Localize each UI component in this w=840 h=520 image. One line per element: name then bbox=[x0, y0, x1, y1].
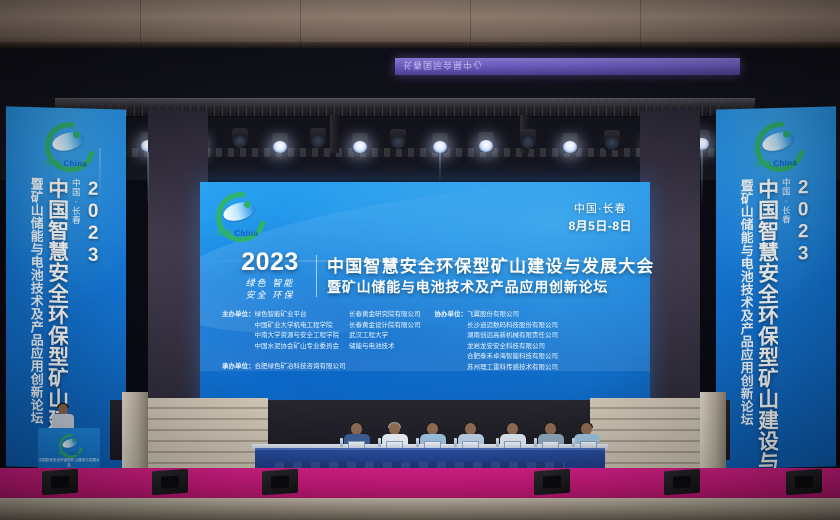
stage-spotlight bbox=[520, 129, 536, 149]
banner-left-logo: GIM China bbox=[6, 120, 126, 174]
screen-logo: GIM China bbox=[214, 192, 260, 243]
co-organizer-item: 苏州理工雷科传感技术有限公司 bbox=[467, 363, 558, 374]
stage-spotlight bbox=[390, 129, 406, 149]
banner-right-subtitle: 暨矿山储能与电池技术及产品应用创新论坛 bbox=[739, 179, 753, 469]
title-divider bbox=[316, 255, 317, 297]
host-item: 长春黄金设计院有限公司 bbox=[349, 321, 421, 332]
side-wall-panel-left bbox=[148, 109, 208, 411]
year-block: 2023 绿色 智能 安全 环保 bbox=[228, 250, 312, 302]
floor-monitor-speaker bbox=[664, 469, 700, 496]
event-year: 2023 bbox=[228, 250, 312, 275]
hall-pillar-right bbox=[700, 392, 726, 470]
gim-china-logo-icon: GIM China bbox=[58, 434, 80, 456]
host-item: 中南大学资源与安全工程学院 bbox=[255, 331, 340, 342]
co-organizer-label: 协办单位： bbox=[435, 310, 468, 373]
event-title-line2: 暨矿山储能与电池技术及产品应用创新论坛 bbox=[327, 278, 655, 297]
ceiling-beam bbox=[0, 0, 840, 48]
gim-china-logo-icon: GIM China bbox=[43, 121, 89, 168]
stage-spotlight bbox=[604, 130, 620, 150]
vertical-banner-right: GIM China 暨矿山储能与电池技术及产品应用创新论坛 中国智慧安全环保型矿… bbox=[716, 106, 836, 469]
organizer-block: 承办单位： 合肥绿色矿冶科技咨询有限公司 bbox=[222, 360, 346, 370]
gim-china-logo-icon: GIM China bbox=[214, 192, 260, 238]
host-item: 绿色智能矿业平台 bbox=[255, 310, 340, 321]
floor-monitor-speaker bbox=[534, 469, 570, 496]
floor-monitor-speaker bbox=[262, 469, 298, 496]
truss-leg bbox=[330, 115, 339, 153]
co-organizer-item: 合肥泰禾卓海智能科技有限公司 bbox=[467, 352, 558, 363]
banner-left-year: 2023 bbox=[83, 178, 103, 469]
main-led-screen: GIM China 中国·长春 8月5日-8日 2023 绿色 智能 安全 环保… bbox=[200, 182, 650, 412]
event-dates: 8月5日-8日 bbox=[568, 218, 632, 235]
event-titles: 中国智慧安全环保型矿山建设与发展大会 暨矿山储能与电池技术及产品应用创新论坛 bbox=[327, 256, 655, 297]
lighting-truss-secondary bbox=[120, 148, 720, 157]
stage-front-edge bbox=[0, 498, 840, 520]
stage-spotlight bbox=[310, 128, 326, 148]
stage-spotlight bbox=[352, 133, 368, 153]
stage-spotlight bbox=[478, 132, 494, 152]
stage-spotlight bbox=[562, 133, 578, 153]
event-location: 中国·长春 bbox=[568, 202, 632, 218]
led-strip-text: 长春国际会展中心 bbox=[403, 59, 483, 72]
floor-monitor-speaker bbox=[152, 469, 188, 496]
host-item: 储能与电池技术 bbox=[349, 342, 421, 353]
gim-china-logo-icon: GIM China bbox=[753, 121, 799, 168]
co-organizer-item: 龙岩龙安安全科技有限公司 bbox=[467, 342, 558, 353]
banner-right-logo: GIM China bbox=[716, 120, 836, 174]
host-item: 中国水泥协会矿山专业委员会 bbox=[255, 342, 340, 353]
co-organizer-block: 协办单位： 飞翼股份有限公司 长沙迪迈数码科技股份有限公司 湖南创远高新机械有限… bbox=[435, 310, 559, 373]
hall-pillar-left bbox=[122, 392, 148, 470]
banner-right-location: 中国·长春 bbox=[781, 178, 790, 468]
organizer-name: 合肥绿色矿冶科技咨询有限公司 bbox=[255, 360, 346, 370]
host-column-2: 长春黄金研究院有限公司 长春黄金设计院有限公司 武汉工程大学 储能与电池技术 bbox=[349, 310, 421, 373]
stage-spotlight bbox=[232, 128, 248, 148]
floor-monitor-speaker bbox=[786, 469, 822, 496]
purple-led-strip: 长春国际会展中心 bbox=[395, 58, 740, 75]
host-item: 中国矿业大学机电工程学院 bbox=[255, 321, 340, 332]
co-organizer-item: 飞翼股份有限公司 bbox=[467, 310, 558, 321]
banner-right-year: 2023 bbox=[793, 177, 813, 468]
event-title-line1: 中国智慧安全环保型矿山建设与发展大会 bbox=[327, 256, 655, 278]
screen-title-block: 2023 绿色 智能 安全 环保 中国智慧安全环保型矿山建设与发展大会 暨矿山储… bbox=[228, 250, 636, 302]
host-item: 武汉工程大学 bbox=[349, 331, 421, 342]
co-organizer-item: 湖南创远高新机械有限责任公司 bbox=[467, 331, 558, 342]
speaker-at-podium bbox=[52, 404, 74, 430]
organizer-label: 承办单位： bbox=[222, 360, 255, 370]
host-item: 长春黄金研究院有限公司 bbox=[349, 310, 421, 321]
banner-left-subtitle: 暨矿山储能与电池技术及产品应用创新论坛 bbox=[29, 177, 43, 467]
event-slogan: 绿色 智能 安全 环保 bbox=[228, 278, 312, 302]
event-date-block: 中国·长春 8月5日-8日 bbox=[568, 202, 632, 235]
co-organizer-column: 飞翼股份有限公司 长沙迪迈数码科技股份有限公司 湖南创远高新机械有限责任公司 龙… bbox=[467, 310, 558, 373]
stage-spotlight bbox=[432, 133, 448, 153]
podium-logo: GIM China bbox=[58, 434, 80, 458]
co-organizer-item: 长沙迪迈数码科技股份有限公司 bbox=[467, 321, 558, 332]
banner-right-title: 中国智慧安全环保型矿山建设与发展大会 bbox=[756, 178, 778, 469]
floor-monitor-speaker bbox=[42, 469, 78, 496]
stage-spotlight bbox=[272, 133, 288, 153]
conference-stage-photo: 长春国际会展中心 GIM China 暨矿山储能与电池技术及产品应用创新论坛 中… bbox=[0, 0, 840, 520]
